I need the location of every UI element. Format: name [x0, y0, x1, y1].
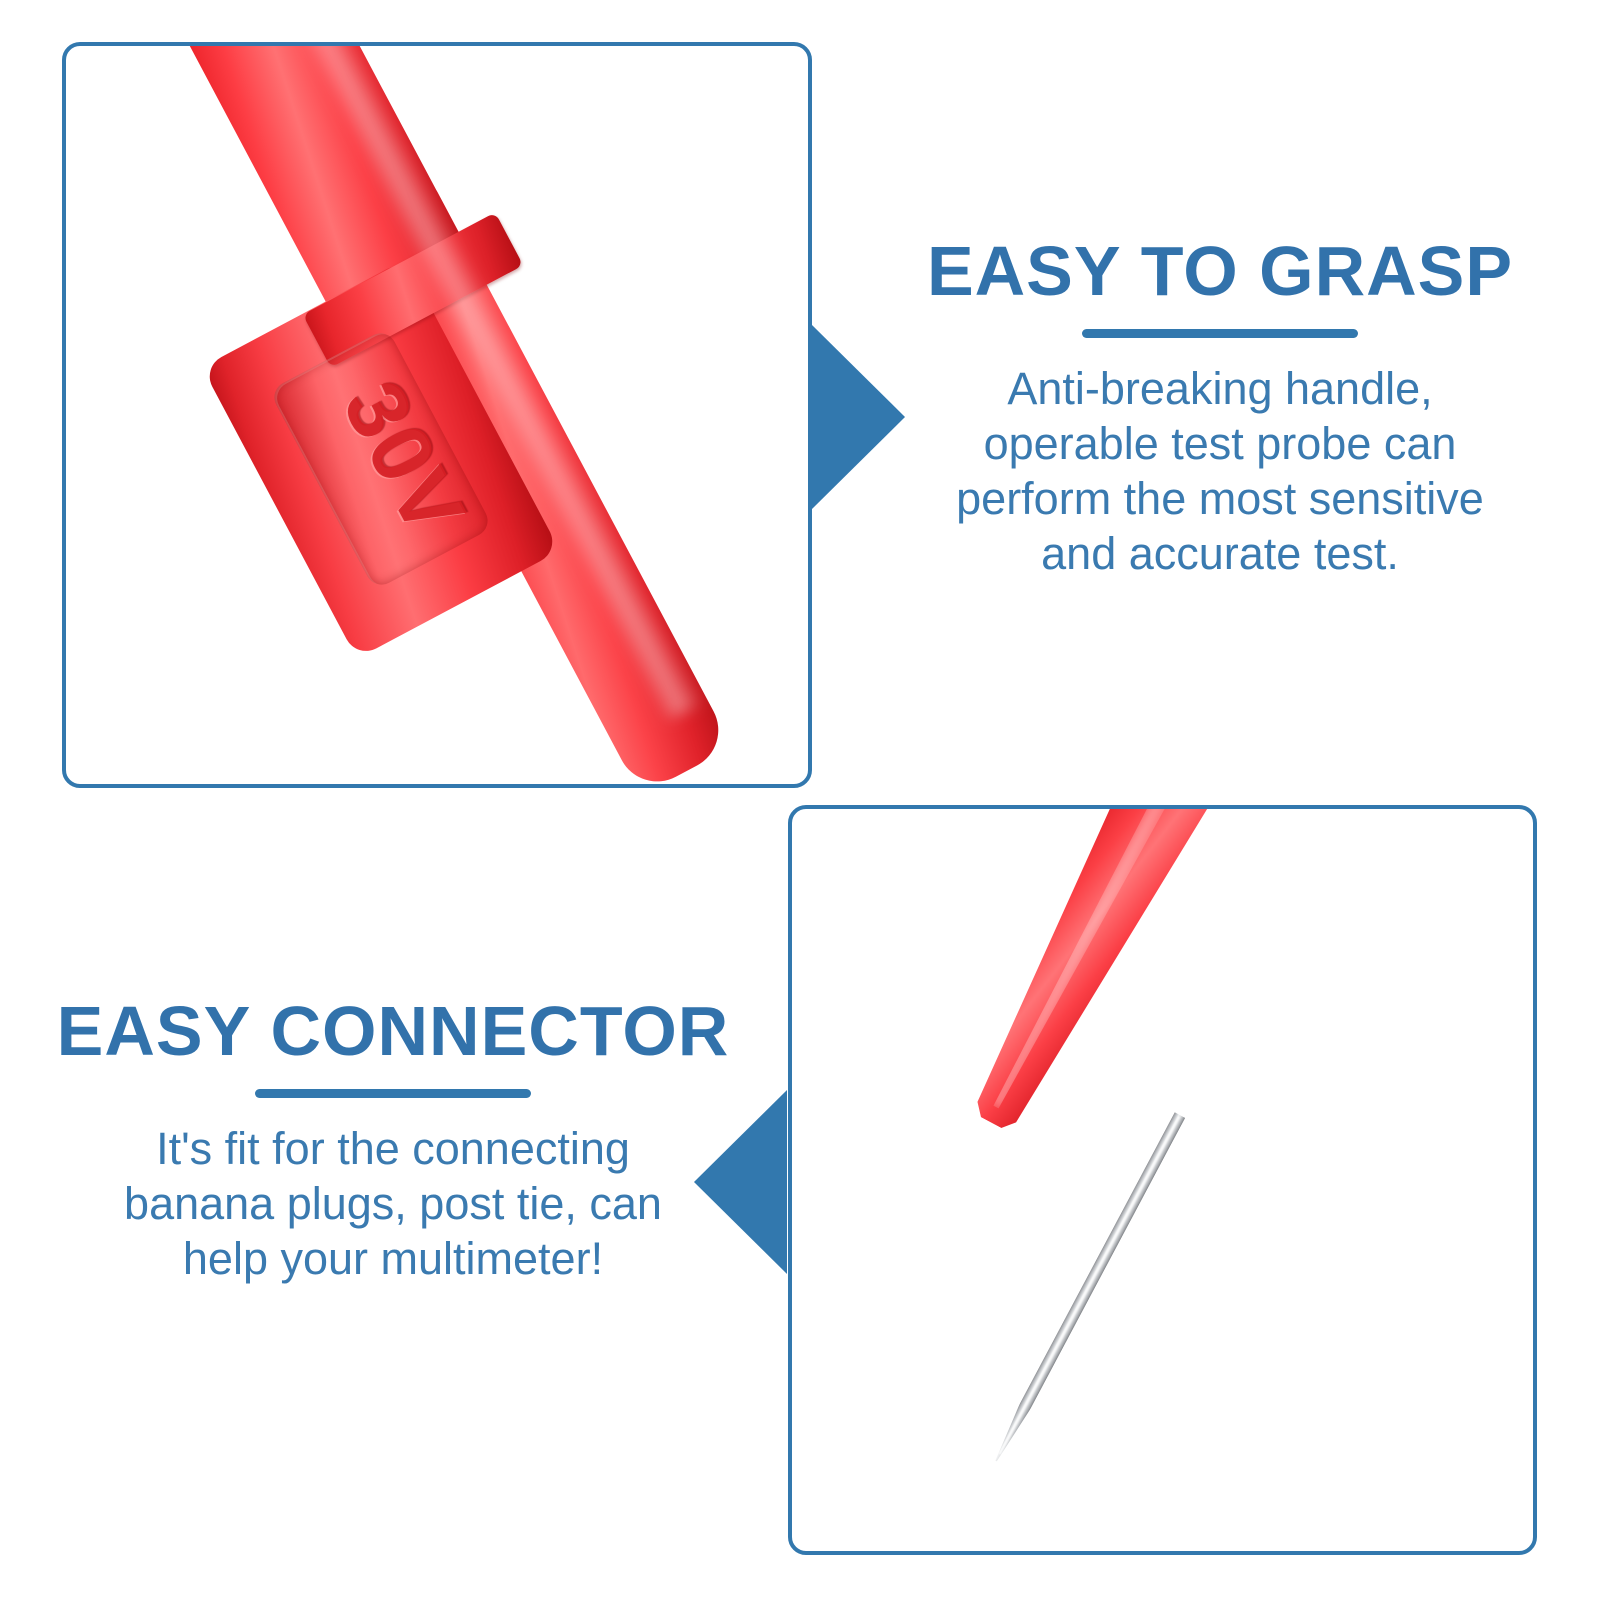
- feature-body-line: It's fit for the connecting: [48, 1122, 738, 1177]
- product-photo-panel-grasp: 30V: [62, 42, 812, 788]
- feature-heading-grasp: EASY TO GRASP: [890, 236, 1550, 307]
- arrow-left-icon: [694, 1090, 787, 1274]
- probe-cone: [944, 805, 1224, 1147]
- product-photo-panel-connector: [788, 805, 1537, 1555]
- probe-needle-photo: [792, 809, 1533, 1551]
- feature-body-line: operable test probe can: [890, 417, 1550, 472]
- feature-body-line: perform the most sensitive: [890, 472, 1550, 527]
- feature-body-line: help your multimeter!: [48, 1232, 738, 1287]
- feature-body-connector: It's fit for the connecting banana plugs…: [48, 1122, 738, 1287]
- heading-underline-grasp: [1082, 329, 1358, 338]
- infographic-canvas: 30V EASY TO GRASP Anti-breaking handle, …: [0, 0, 1600, 1600]
- feature-body-line: and accurate test.: [890, 527, 1550, 582]
- probe-needle-highlight: [999, 1116, 1180, 1454]
- feature-body-grasp: Anti-breaking handle, operable test prob…: [890, 362, 1550, 582]
- feature-body-line: Anti-breaking handle,: [890, 362, 1550, 417]
- feature-heading-connector: EASY CONNECTOR: [48, 996, 738, 1067]
- feature-body-line: banana plugs, post tie, can: [48, 1177, 738, 1232]
- feature-block-easy-to-grasp: EASY TO GRASP Anti-breaking handle, oper…: [890, 236, 1550, 582]
- heading-underline-connector: [255, 1089, 531, 1098]
- probe-handle-photo: 30V: [66, 46, 808, 784]
- feature-block-easy-connector: EASY CONNECTOR It's fit for the connecti…: [48, 996, 738, 1287]
